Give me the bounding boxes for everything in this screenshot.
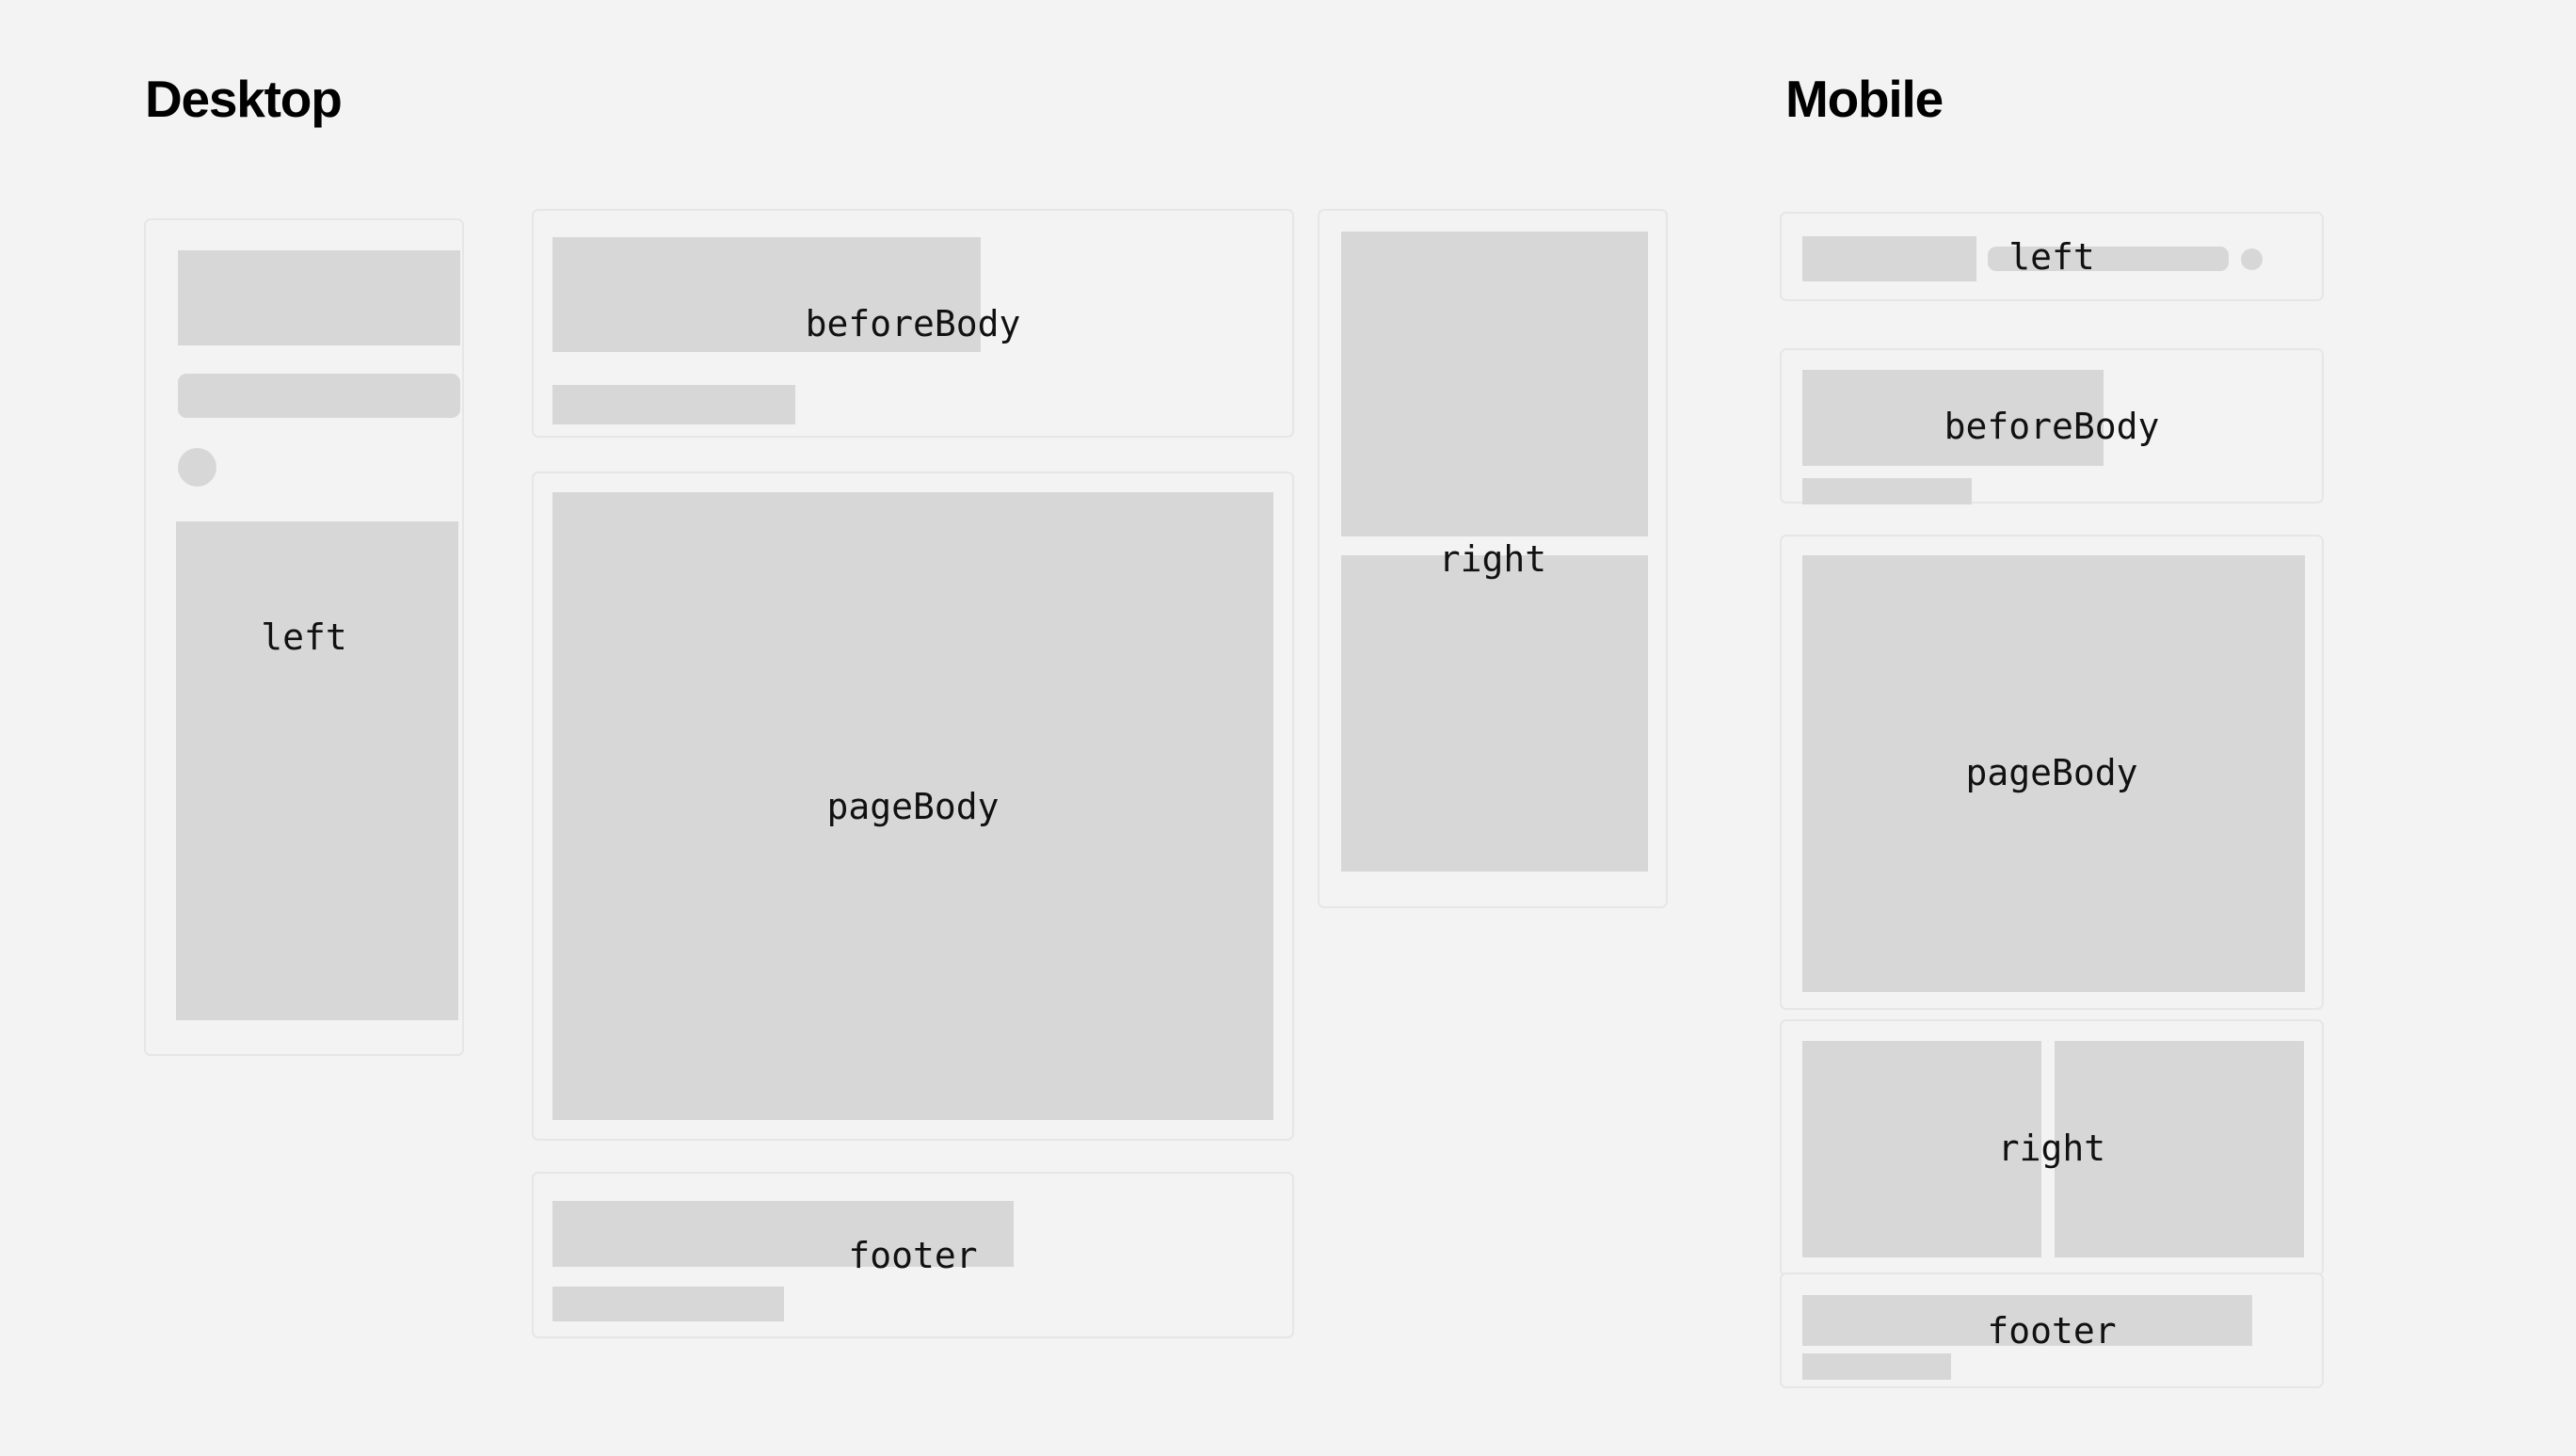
mobile-left-dot[interactable] [2241,248,2263,270]
mobile-pagebody-block[interactable] [1802,555,2305,992]
mobile-footer-block-small[interactable] [1802,1353,1951,1380]
footer-block-wide[interactable] [552,1201,1014,1267]
desktop-beforebody-panel[interactable]: beforeBody [532,209,1294,438]
mobile-section-heading: Mobile [1785,73,1943,125]
footer-block-small[interactable] [552,1287,784,1321]
beforebody-block-large[interactable] [552,237,981,352]
layout-preview-canvas: Desktop left beforeBody pageBody right f… [0,0,2576,1456]
mobile-left-block[interactable] [1802,236,1976,281]
sidebar-avatar-dot[interactable] [178,448,216,487]
mobile-right-block-right[interactable] [2055,1041,2304,1257]
pagebody-block[interactable] [552,492,1273,1120]
right-block-top[interactable] [1341,232,1648,536]
desktop-sidebar-panel[interactable]: left [144,218,464,1056]
desktop-footer-panel[interactable]: footer [532,1172,1294,1338]
mobile-left-panel[interactable]: left [1780,212,2324,301]
desktop-right-rail-panel[interactable]: right [1318,209,1668,908]
mobile-beforebody-panel[interactable]: beforeBody [1780,348,2324,504]
sidebar-block-primary[interactable] [178,250,460,345]
mobile-beforebody-block-large[interactable] [1802,370,2104,466]
mobile-beforebody-block-small[interactable] [1802,478,1972,504]
mobile-right-panel[interactable]: right [1780,1019,2324,1276]
beforebody-block-small[interactable] [552,385,795,424]
desktop-pagebody-panel[interactable]: pageBody [532,472,1294,1141]
mobile-footer-block-wide[interactable] [1802,1295,2252,1346]
right-block-bottom[interactable] [1341,555,1648,872]
mobile-left-bar[interactable] [1988,247,2229,271]
mobile-pagebody-panel[interactable]: pageBody [1780,535,2324,1010]
mobile-footer-panel[interactable]: footer [1780,1272,2324,1388]
sidebar-block-tall[interactable] [176,521,458,1020]
desktop-section-heading: Desktop [145,73,342,125]
sidebar-block-secondary[interactable] [178,374,460,418]
mobile-right-block-left[interactable] [1802,1041,2041,1257]
